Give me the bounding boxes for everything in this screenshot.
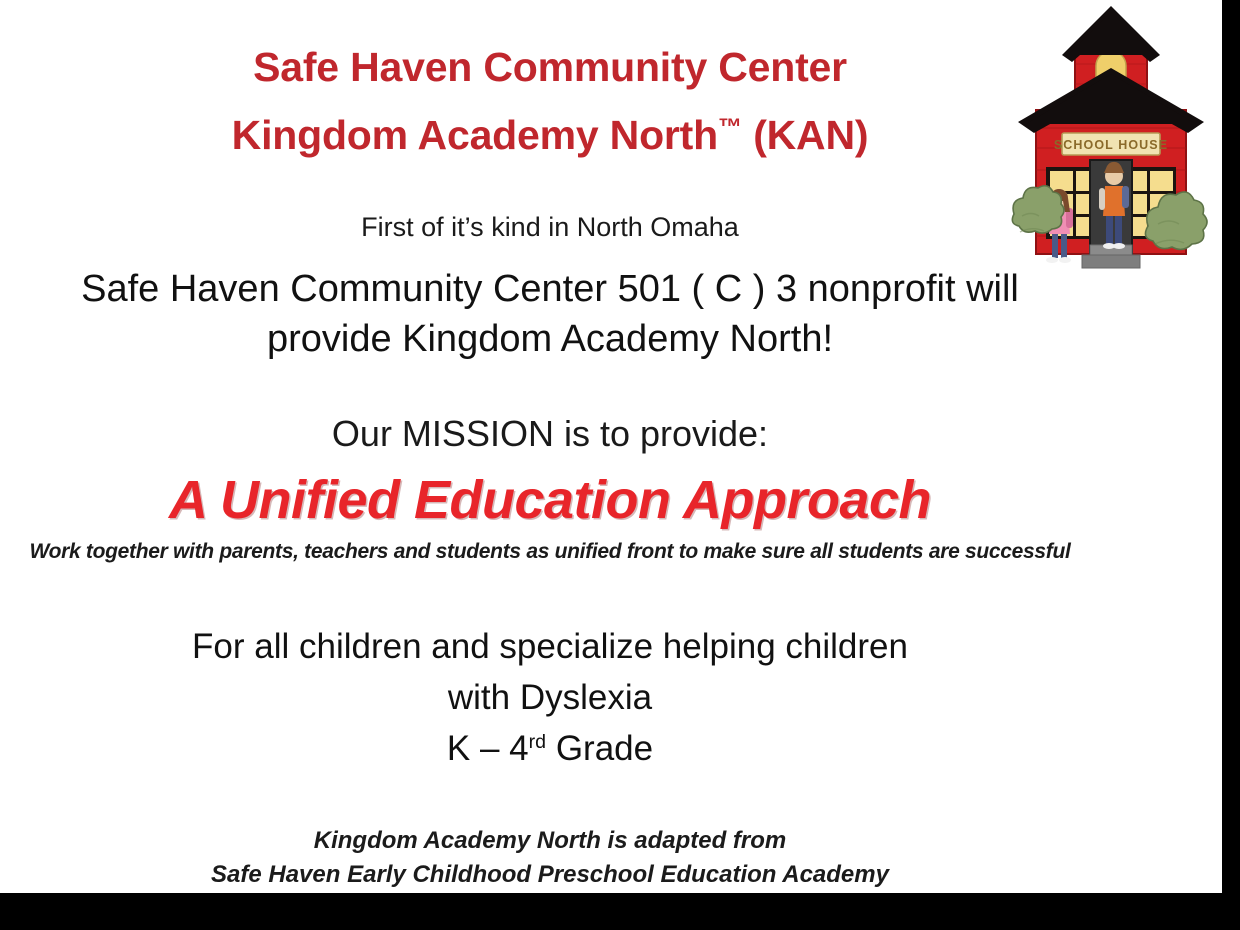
grade-word: Grade <box>556 729 653 768</box>
footer-block: Kingdom Academy North is adapted from Sa… <box>0 824 1100 892</box>
boy-shirt <box>1103 186 1125 216</box>
mission-headline-row: A Unified Education Approach <box>0 469 1100 531</box>
tagline-row: First of it’s kind in North Omaha <box>0 212 1100 243</box>
title-line-2-row: Kingdom Academy North™ (KAN) <box>0 112 1100 159</box>
boy-leg-right <box>1115 214 1122 244</box>
girl-leg-left <box>1052 232 1058 258</box>
lead-paragraph: Safe Haven Community Center 501 ( C ) 3 … <box>0 264 1100 364</box>
slide-canvas: Safe Haven Community Center Kingdom Acad… <box>0 0 1222 893</box>
frame-bar-right <box>1222 0 1240 930</box>
lead-line-2: provide Kingdom Academy North! <box>0 314 1100 364</box>
audience-line-2: with Dyslexia <box>0 673 1100 724</box>
audience-block: For all children and specialize helping … <box>0 622 1100 774</box>
girl-shoe-left <box>1046 257 1058 263</box>
grade-ordinal-suffix: rd <box>529 730 546 752</box>
mission-supporting-row: Work together with parents, teachers and… <box>0 540 1100 564</box>
grade-prefix: K – 4 <box>447 729 529 768</box>
page-title-line-2: Kingdom Academy North™ (KAN) <box>232 112 869 158</box>
bush-left <box>1012 186 1064 233</box>
boy-arm-left <box>1099 188 1105 210</box>
girl-leg-right <box>1061 232 1067 258</box>
mission-label-row: Our MISSION is to provide: <box>0 413 1100 455</box>
girl-shoe-right <box>1059 257 1071 263</box>
belfry-roof-fill <box>1068 12 1154 55</box>
trademark-symbol: ™ <box>718 114 742 141</box>
main-roof-fill <box>1026 74 1196 124</box>
page-title-line-1: Safe Haven Community Center <box>253 44 847 90</box>
school-house-sign-label: SCHOOL HOUSE <box>1054 138 1168 152</box>
audience-line-1: For all children and specialize helping … <box>0 622 1100 673</box>
page-title-abbreviation: (KAN) <box>753 112 868 158</box>
boy-leg-left <box>1106 214 1113 244</box>
lead-line-1: Safe Haven Community Center 501 ( C ) 3 … <box>0 264 1100 314</box>
tagline-text: First of it’s kind in North Omaha <box>361 212 739 242</box>
step-lower <box>1082 255 1140 268</box>
slide-root: Safe Haven Community Center Kingdom Acad… <box>0 0 1240 930</box>
school-house-icon: SCHOOL HOUSE <box>1008 2 1213 274</box>
boy-backpack <box>1122 186 1129 208</box>
boy-shoe-right <box>1113 243 1125 249</box>
mission-headline: A Unified Education Approach <box>169 470 931 530</box>
audience-grade-range: K – 4rd Grade <box>0 724 1100 775</box>
mission-supporting-text: Work together with parents, teachers and… <box>29 540 1070 563</box>
title-line-1-row: Safe Haven Community Center <box>0 44 1100 91</box>
page-title-line-2-main: Kingdom Academy North <box>232 112 718 158</box>
mission-label: Our MISSION is to provide: <box>332 413 768 454</box>
school-house-illustration: SCHOOL HOUSE <box>1008 2 1213 274</box>
footer-line-1: Kingdom Academy North is adapted from <box>0 824 1100 858</box>
footer-line-2: Safe Haven Early Childhood Preschool Edu… <box>0 858 1100 892</box>
frame-bar-bottom <box>0 893 1240 930</box>
bush-left-shape <box>1012 186 1064 233</box>
